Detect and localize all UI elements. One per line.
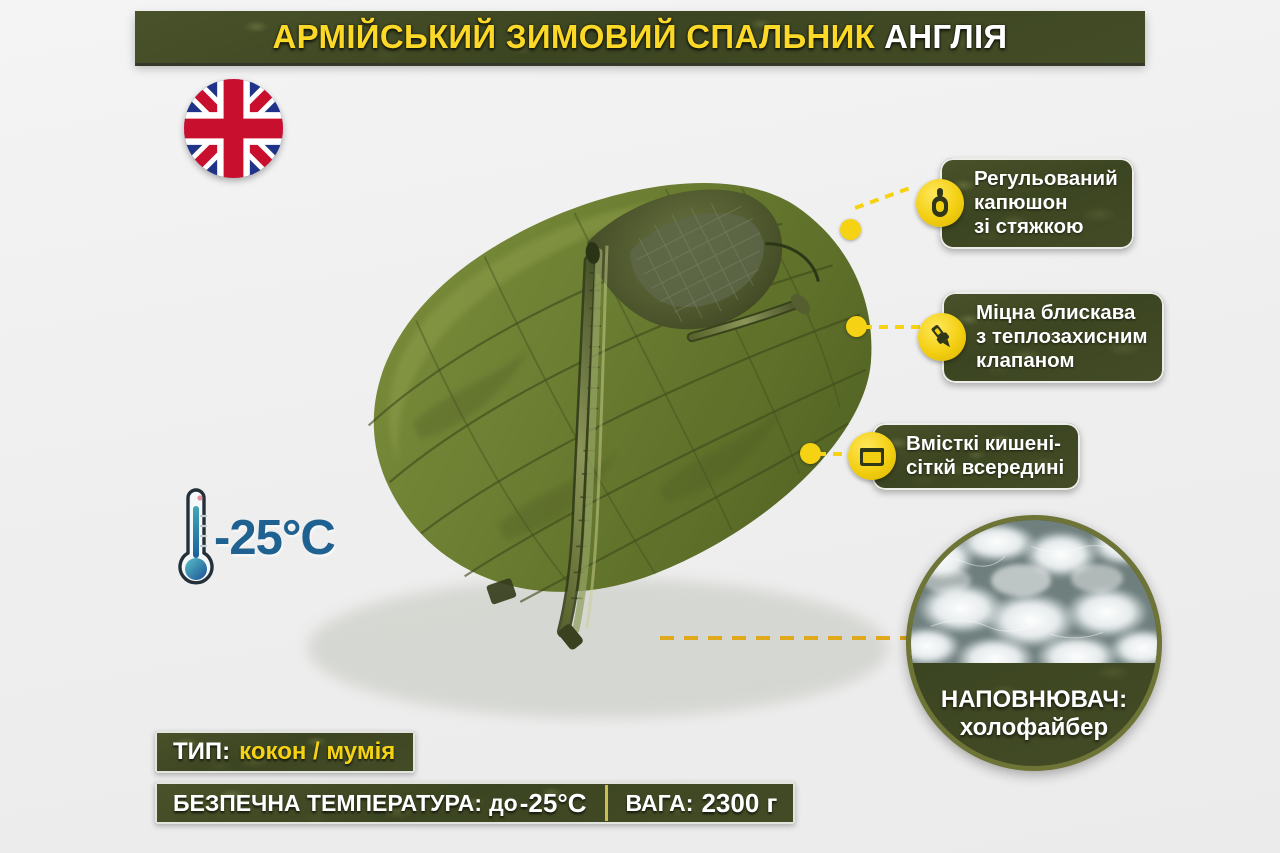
temperature-rating: -25°C [170,482,335,594]
filler-leader-line [660,636,930,640]
callout-hood-label: Регульований капюшон зі стяжкою [940,158,1134,249]
spec-temperature-prefix: до [489,790,518,817]
filler-caption: НАПОВНЮВАЧ: холофайбер [911,663,1157,766]
callout-hood: Регульований капюшон зі стяжкою [841,158,1134,249]
spec-temperature-label: БЕЗПЕЧНА ТЕМПЕРАТУРА: [173,790,482,817]
spec-weight-label: ВАГА: [626,790,694,817]
callout-zipper-label: Міцна блискава з теплозахисним клапаном [942,292,1164,383]
callout-pocket-label: Вмісткі кишені- сіткй всередині [872,423,1080,490]
product-image-sleeping-bag [268,88,928,738]
spec-bar-temperature-weight: БЕЗПЕЧНА ТЕМПЕРАТУРА: до -25°С ВАГА: 230… [155,782,795,824]
spec-temperature-cell: БЕЗПЕЧНА ТЕМПЕРАТУРА: до -25°С [155,782,605,824]
spec-type-label: ТИП: [173,738,230,766]
page-title: АРМІЙСЬКИЙ ЗИМОВИЙ СПАЛЬНИКАНГЛІЯ [273,18,1008,56]
filler-detail-circle: НАПОВНЮВАЧ: холофайбер [906,515,1162,771]
spec-weight-cell: ВАГА: 2300 г [608,782,796,824]
temperature-value: -25°C [214,510,335,566]
filler-caption-line2: холофайбер [960,714,1108,743]
callout-anchor-dot [840,219,861,240]
callout-pocket: Вмісткі кишені- сіткй всередині [800,423,1080,490]
hollofiber-material-image [911,520,1157,663]
spec-temperature-value: -25°С [520,788,587,819]
callout-zipper: Міцна блискава з теплозахисним клапаном [846,292,1164,383]
title-country-text: АНГЛІЯ [884,18,1007,55]
title-bar: АРМІЙСЬКИЙ ЗИМОВИЙ СПАЛЬНИКАНГЛІЯ [135,11,1145,63]
infographic-canvas: АРМІЙСЬКИЙ ЗИМОВИЙ СПАЛЬНИКАНГЛІЯ [0,0,1280,853]
filler-caption-line1: НАПОВНЮВАЧ: [941,686,1127,715]
callout-leader-line [854,184,916,210]
callout-leader-line [863,325,923,329]
spec-type-value: кокон / мумія [239,738,395,766]
spec-bar-type: ТИП: кокон / мумія [155,731,415,773]
spec-weight-value: 2300 г [701,788,777,819]
title-main-text: АРМІЙСЬКИЙ ЗИМОВИЙ СПАЛЬНИК [273,18,876,55]
